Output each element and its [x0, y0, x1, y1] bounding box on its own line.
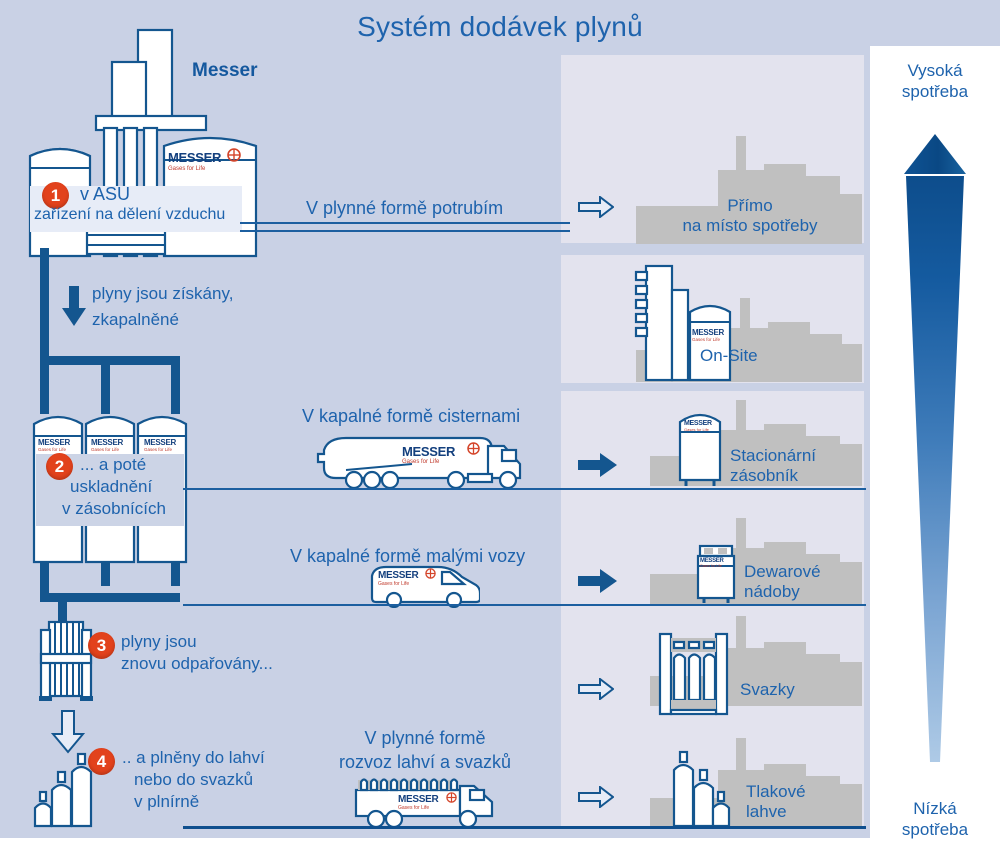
- messer-logo-dewar: MESSER Gases for Life: [700, 558, 724, 568]
- step-4-line2: nebo do svazků: [134, 770, 253, 790]
- step-2-badge: 2: [46, 453, 73, 480]
- diagram-canvas: Systém dodávek plynů Messer Zákazník Vys…: [0, 0, 1000, 857]
- destination-label-pipeline: Přímo na místo spotřeby: [640, 196, 860, 236]
- step-4-line1: .. a plněny do lahví: [122, 748, 265, 768]
- messer-logo-van: MESSER Gases for Life: [378, 570, 418, 587]
- destination-label-onsite: On-Site: [700, 346, 860, 366]
- down-arrow-icon: [60, 286, 86, 328]
- solid-arrow-icon-van: [578, 568, 618, 594]
- step-4-badge: 4: [88, 748, 115, 775]
- step-1-line2: zařízení na dělení vzduchu: [34, 206, 225, 225]
- pipe-branch-top: [40, 356, 180, 365]
- outline-arrow-icon-bundles: [578, 678, 614, 700]
- outline-arrow-icon-cylinders: [578, 786, 614, 808]
- bottom-rule: [183, 826, 866, 829]
- messer-logo-onsite: MESSER Gases for Life: [692, 328, 724, 342]
- consumption-triangle: [870, 122, 1000, 822]
- destination-label-tanker: Stacionární zásobník: [730, 446, 864, 486]
- pipe-down-mid: [101, 562, 110, 586]
- process-note-line2: zkapalněné: [92, 310, 179, 330]
- step-1-line1: v ASU: [80, 184, 130, 205]
- transport-label-pipeline: V plynné formě potrubím: [306, 198, 503, 219]
- destination-label-cylinders: Tlakové lahve: [746, 782, 864, 822]
- pipeline-line-b: [240, 230, 570, 232]
- step-3-line1: plyny jsou: [121, 632, 197, 652]
- consumption-high-label: Vysoká spotřeba: [870, 60, 1000, 103]
- transport-label-tanker: V kapalné formě cisternami: [302, 406, 520, 427]
- process-note-line1: plyny jsou získány,: [92, 284, 233, 304]
- row-separator-2: [183, 604, 866, 606]
- consumption-column: Vysoká spotřeba Nízká spotřeba: [870, 46, 1000, 838]
- row-separator-1: [183, 488, 866, 490]
- step-2-line2: uskladnění: [70, 477, 152, 497]
- messer-logo-tank-1: MESSER Gases for Life: [38, 438, 70, 452]
- cylinder-bundle-graphic: [658, 632, 730, 718]
- messer-logo-stationary: MESSER Gases for Life: [684, 420, 712, 432]
- messer-logo-tank-2: MESSER Gases for Life: [91, 438, 123, 452]
- messer-logo-cyl-truck: MESSER Gases for Life: [398, 794, 438, 811]
- destination-label-dewar: Dewarové nádoby: [744, 562, 864, 602]
- messer-mark-icon-tanker: [467, 442, 480, 455]
- stationary-tank-graphic: [676, 406, 724, 488]
- dewar-vessel-graphic: [694, 544, 738, 604]
- messer-logo-tanker: MESSER Gases for Life: [402, 444, 455, 465]
- vaporizer-graphic: [35, 620, 97, 712]
- transport-label-cylinders-line1: V plynné formě: [290, 728, 560, 749]
- step-3-line2: znovu odpařovány...: [121, 654, 273, 674]
- messer-mark-icon: [227, 148, 241, 162]
- consumption-low-label: Nízká spotřeba: [870, 798, 1000, 841]
- gas-cylinders-graphic-right: [666, 748, 738, 828]
- messer-mark-icon-cyl-truck: [446, 792, 457, 803]
- messer-logo-tank-3: MESSER Gases for Life: [144, 438, 176, 452]
- pipe-down-right: [171, 562, 180, 586]
- step-2-line3: v zásobnících: [62, 499, 166, 519]
- outline-arrow-icon-pipeline: [578, 196, 614, 218]
- step-1-badge: 1: [42, 182, 69, 209]
- step-2-line1: ... a poté: [80, 455, 146, 475]
- step-3-badge: 3: [88, 632, 115, 659]
- solid-arrow-icon-tanker: [578, 452, 618, 478]
- step-4-line3: v plnírně: [134, 792, 199, 812]
- pipe-main-down: [40, 248, 49, 365]
- transport-label-cylinders-line2: rozvoz lahví a svazků: [290, 752, 560, 773]
- pipeline-line-a: [240, 222, 570, 224]
- messer-logo-asu: MESSER Gases for Life: [168, 150, 221, 172]
- messer-mark-icon-van: [425, 568, 436, 579]
- destination-label-bundles: Svazky: [740, 680, 864, 700]
